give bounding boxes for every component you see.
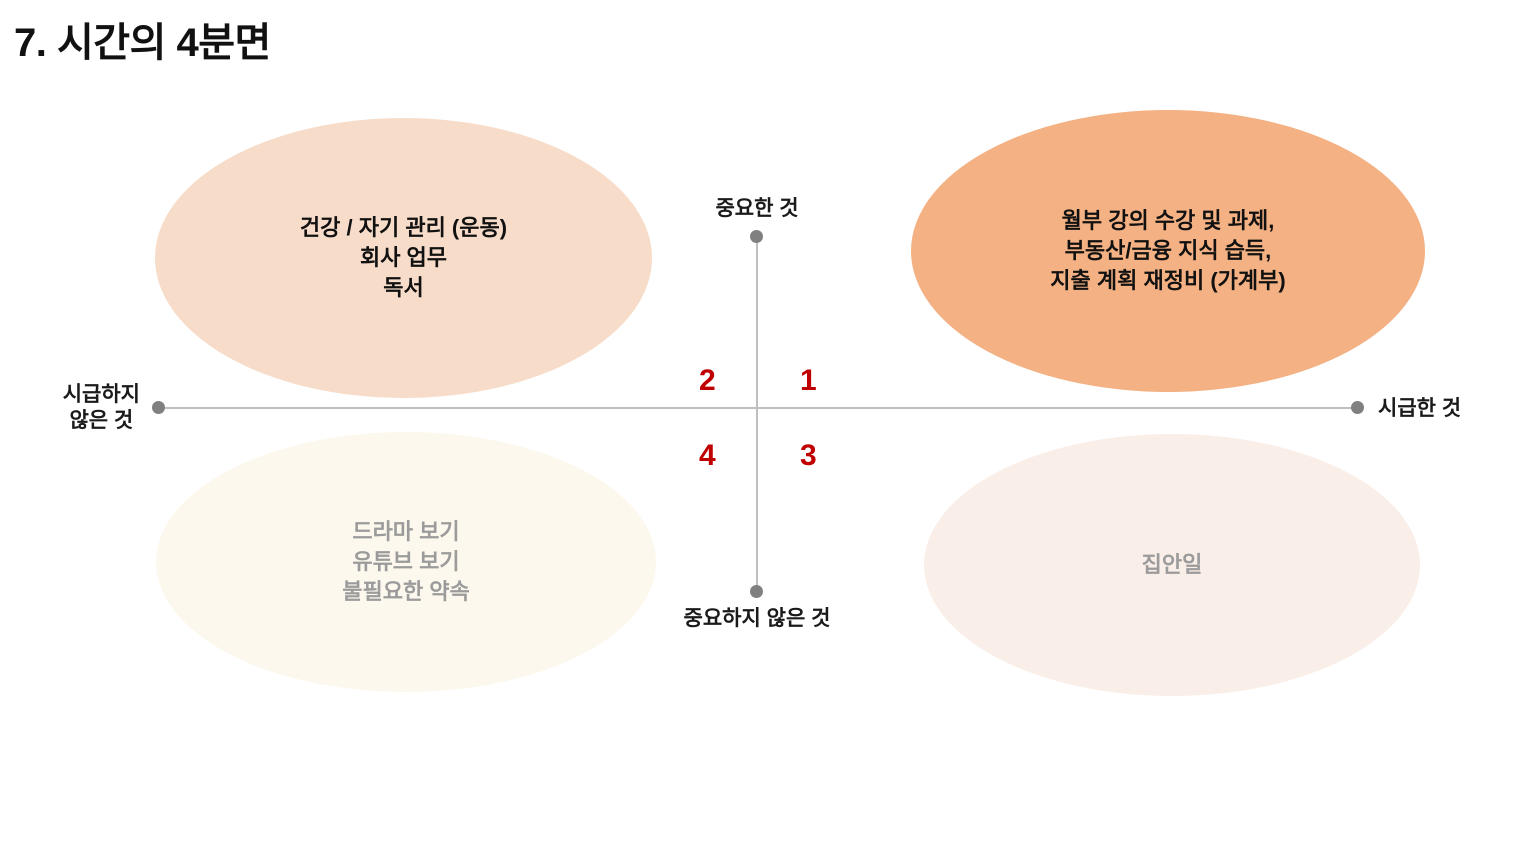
quadrant-1-ellipse[interactable]: 월부 강의 수강 및 과제, 부동산/금융 지식 습득, 지출 계획 재정비 (… (911, 110, 1425, 392)
axis-endpoint-dot-right-icon (1351, 401, 1364, 414)
axis-endpoint-dot-left-icon (152, 401, 165, 414)
vertical-axis-line (756, 236, 758, 592)
axis-label-urgent: 시급한 것 (1378, 396, 1461, 422)
quadrant-number-2: 2 (699, 366, 716, 396)
axis-endpoint-dot-top-icon (750, 230, 763, 243)
quadrant-3-ellipse[interactable]: 집안일 (924, 434, 1420, 696)
quadrant-2-text: 건강 / 자기 관리 (운동) 회사 업무 독서 (282, 213, 525, 302)
quadrant-3-text: 집안일 (1124, 550, 1221, 580)
quadrant-number-4: 4 (699, 441, 716, 471)
axis-label-not-urgent-line1: 시급하지 (63, 383, 140, 406)
quadrant-1-text: 월부 강의 수강 및 과제, 부동산/금융 지식 습득, 지출 계획 재정비 (… (1032, 206, 1303, 295)
axis-label-not-urgent: 시급하지 않은 것 (63, 382, 140, 435)
quadrant-4-ellipse[interactable]: 드라마 보기 유튜브 보기 불필요한 약속 (156, 432, 656, 692)
quadrant-2-ellipse[interactable]: 건강 / 자기 관리 (운동) 회사 업무 독서 (155, 118, 652, 398)
axis-label-important: 중요한 것 (715, 196, 798, 222)
page-title: 7. 시간의 4분면 (14, 10, 271, 68)
axis-label-not-important: 중요하지 않은 것 (684, 606, 831, 632)
quadrant-number-3: 3 (800, 441, 817, 471)
axis-endpoint-dot-bottom-icon (750, 585, 763, 598)
axis-label-not-urgent-line2: 않은 것 (63, 408, 140, 434)
slide-canvas: 7. 시간의 4분면 건강 / 자기 관리 (운동) 회사 업무 독서 월부 강… (0, 0, 1520, 855)
quadrant-number-1: 1 (800, 366, 817, 396)
quadrant-4-text: 드라마 보기 유튜브 보기 불필요한 약속 (324, 517, 488, 606)
